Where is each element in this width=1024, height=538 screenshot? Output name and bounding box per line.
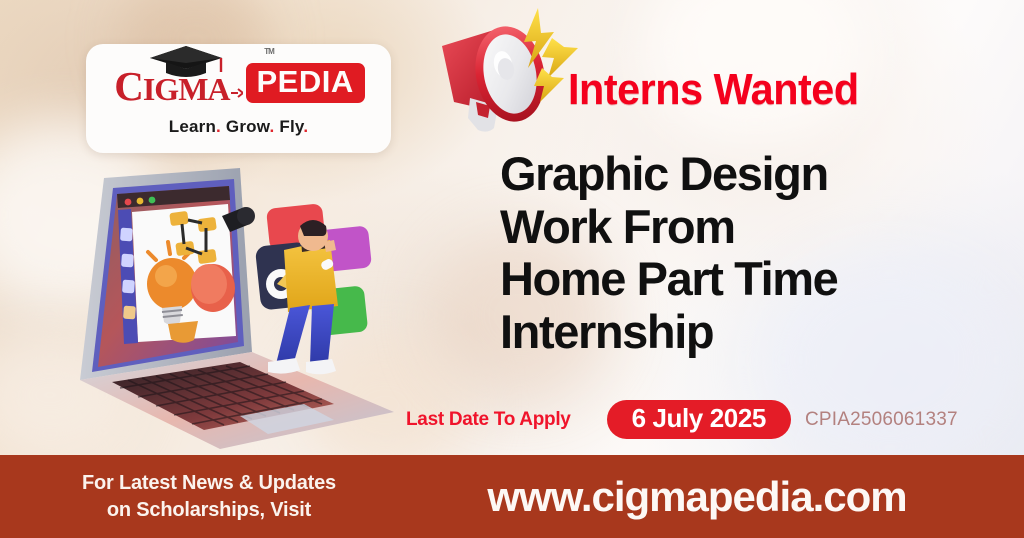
- apply-deadline-row: Last Date To Apply 6 July 2025 CPIA25060…: [406, 400, 958, 439]
- title-line-1: Graphic Design: [500, 148, 970, 201]
- page-title: Graphic Design Work From Home Part Time …: [500, 148, 970, 359]
- title-line-2: Work From: [500, 201, 970, 254]
- promo-banner: CIGMATM PEDIA Learn. Grow. Fly.: [0, 0, 1024, 538]
- website-url[interactable]: www.cigmapedia.com: [400, 473, 1024, 521]
- trademark-symbol: TM: [264, 48, 274, 56]
- logo-badge-pedia: PEDIA: [246, 63, 365, 102]
- brand-logo-card[interactable]: CIGMATM PEDIA Learn. Grow. Fly.: [86, 44, 391, 153]
- logo-wordmark: CIGMATM PEDIA: [112, 61, 365, 107]
- reference-code: CPIA2506061337: [805, 409, 958, 431]
- logo-text-cigma: CIGMATM: [112, 66, 229, 107]
- laptop-designer-illustration: [72, 166, 402, 451]
- apply-label: Last Date To Apply: [406, 409, 571, 431]
- footer-cta-line-2: on Scholarships, Visit: [18, 497, 400, 523]
- title-line-3: Home Part Time: [500, 253, 970, 306]
- footer-bar: For Latest News & Updates on Scholarship…: [0, 455, 1024, 538]
- eyebrow-headline: Interns Wanted: [568, 68, 859, 112]
- deadline-date-badge: 6 July 2025: [607, 400, 791, 439]
- footer-cta-text: For Latest News & Updates on Scholarship…: [0, 470, 400, 523]
- arrow-separator-icon: [231, 88, 243, 98]
- footer-cta-line-1: For Latest News & Updates: [18, 470, 400, 496]
- brand-tagline: Learn. Grow. Fly.: [169, 117, 309, 137]
- title-line-4: Internship: [500, 306, 970, 359]
